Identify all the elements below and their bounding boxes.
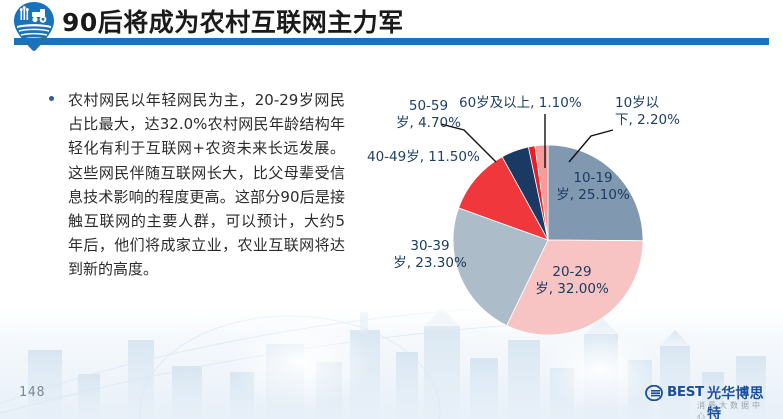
- age-distribution-pie-chart: 50-59 岁, 4.70% 60岁及以上, 1.10% 10岁以 下, 2.2…: [355, 78, 783, 348]
- footer-logo-brand: BEST: [667, 384, 704, 400]
- pie-label-60-plus: 60岁及以上, 1.10%: [459, 95, 582, 112]
- pie-label-40-49: 40-49岁, 11.50%: [367, 149, 480, 166]
- best-circle-icon: [645, 385, 665, 401]
- footer-logo-subtitle: 消费大数据中心: [697, 400, 771, 419]
- body-bullet: 农村网民以年轻网民为主，20-29岁网民占比最大，达32.0%农村网民年龄结构年…: [49, 88, 345, 282]
- slide-canvas: 90后将成为农村互联网主力军 农村网民以年轻网民为主，20-29岁网民占比最大，…: [0, 0, 783, 419]
- footer-logo: BEST 光华博思特 消费大数据中心: [645, 384, 771, 412]
- page-number: 148: [19, 385, 45, 400]
- bullet-dot-icon: [49, 96, 54, 101]
- bullet-paragraph: 农村网民以年轻网民为主，20-29岁网民占比最大，达32.0%农村网民年龄结构年…: [68, 88, 345, 282]
- pie-label-under-10: 10岁以 下, 2.20%: [615, 95, 680, 129]
- slide-header: 90后将成为农村互联网主力军: [0, 0, 783, 52]
- pie-label-50-59: 50-59 岁, 4.70%: [396, 98, 461, 132]
- pie-label-10-19: 10-19 岁, 25.10%: [545, 170, 641, 204]
- page-title: 90后将成为农村互联网主力军: [62, 3, 404, 39]
- pie-label-20-29: 20-29 岁, 32.00%: [522, 264, 622, 298]
- title-underline-rule: [14, 38, 769, 45]
- pie-label-30-39: 30-39 岁, 23.30%: [382, 238, 478, 272]
